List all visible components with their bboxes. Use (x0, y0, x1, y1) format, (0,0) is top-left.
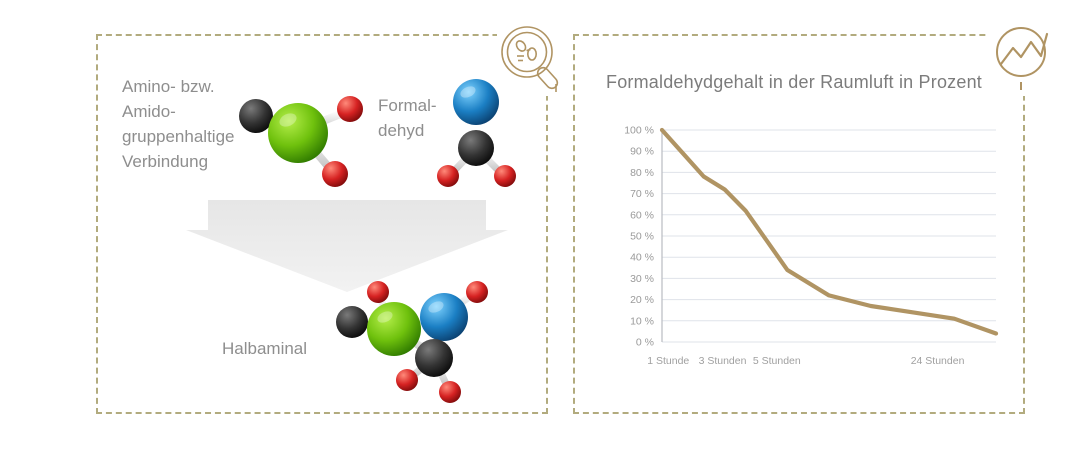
data-series-line (662, 130, 996, 334)
y-axis-tick-label: 70 % (630, 188, 654, 200)
x-axis-tick-label: 1 Stunde (647, 355, 689, 367)
halbaminal-molecule (322, 270, 502, 410)
line-chart: 100 %90 %80 %70 %60 %50 %40 %30 %20 %10 … (604, 120, 1004, 380)
y-axis-tick-label: 90 % (630, 146, 654, 158)
x-axis-tick-label: 5 Stunden (753, 355, 801, 367)
y-axis-tick-label: 100 % (624, 125, 654, 137)
formaldehyde-molecule (428, 70, 524, 192)
y-axis-tick-label: 30 % (630, 273, 654, 285)
y-axis-tick-label: 60 % (630, 209, 654, 221)
amine-compound-molecule (232, 78, 372, 193)
y-axis-tick-label: 20 % (630, 294, 654, 306)
y-axis-tick-label: 40 % (630, 252, 654, 264)
x-axis-tick-label: 24 Stunden (911, 355, 965, 367)
x-axis-tick-label: 3 Stunden (699, 355, 747, 367)
trend-chart-circle-icon (987, 22, 1061, 96)
infographic-stage: Amino- bzw. Amido- gruppenhaltige Verbin… (0, 0, 1080, 462)
y-axis-tick-label: 0 % (636, 337, 654, 349)
chart-title: Formaldehydgehalt in der Raumluft in Pro… (606, 72, 982, 93)
y-axis-tick-label: 80 % (630, 167, 654, 179)
y-axis-tick-label: 50 % (630, 231, 654, 243)
y-axis-tick-label: 10 % (630, 315, 654, 327)
